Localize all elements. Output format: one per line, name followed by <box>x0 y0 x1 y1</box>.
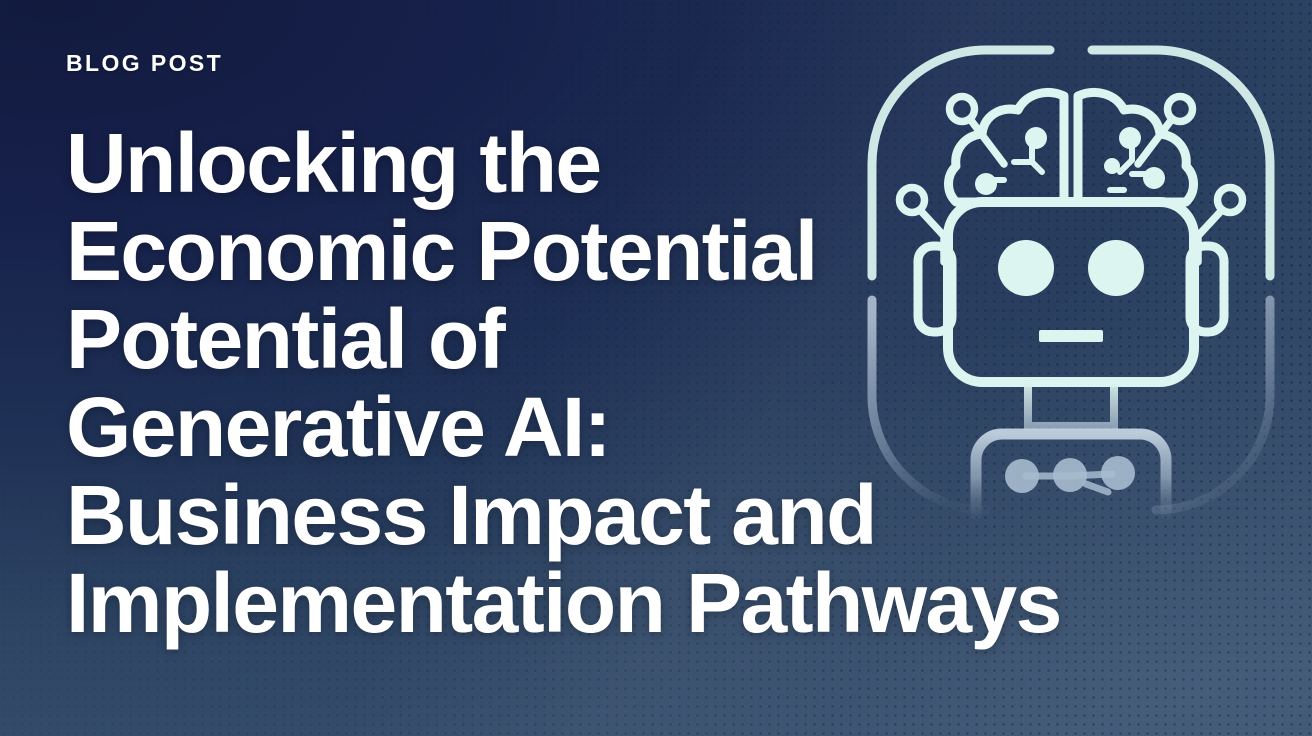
text-block: BLOG POST Unlocking the Economic Potenti… <box>66 52 1176 647</box>
headline-line-1: Unlocking the <box>66 119 1176 207</box>
blog-post-banner: BLOG POST Unlocking the Economic Potenti… <box>0 0 1312 736</box>
headline-line-4: Generative AI: <box>66 383 1176 471</box>
headline-line-2: Economic Potential <box>66 207 1176 295</box>
headline-line-5: Business Impact and <box>66 471 1176 559</box>
page-title: Unlocking the Economic Potential Potenti… <box>66 119 1176 647</box>
eyebrow-label: BLOG POST <box>66 52 1176 75</box>
antenna-side-right-tip <box>1218 188 1243 213</box>
robot-ear-right <box>1190 246 1224 332</box>
antenna-side-right <box>1198 210 1222 262</box>
headline-line-3: Potential of <box>66 295 1176 383</box>
headline-line-6: Implementation Pathways <box>66 559 1176 647</box>
